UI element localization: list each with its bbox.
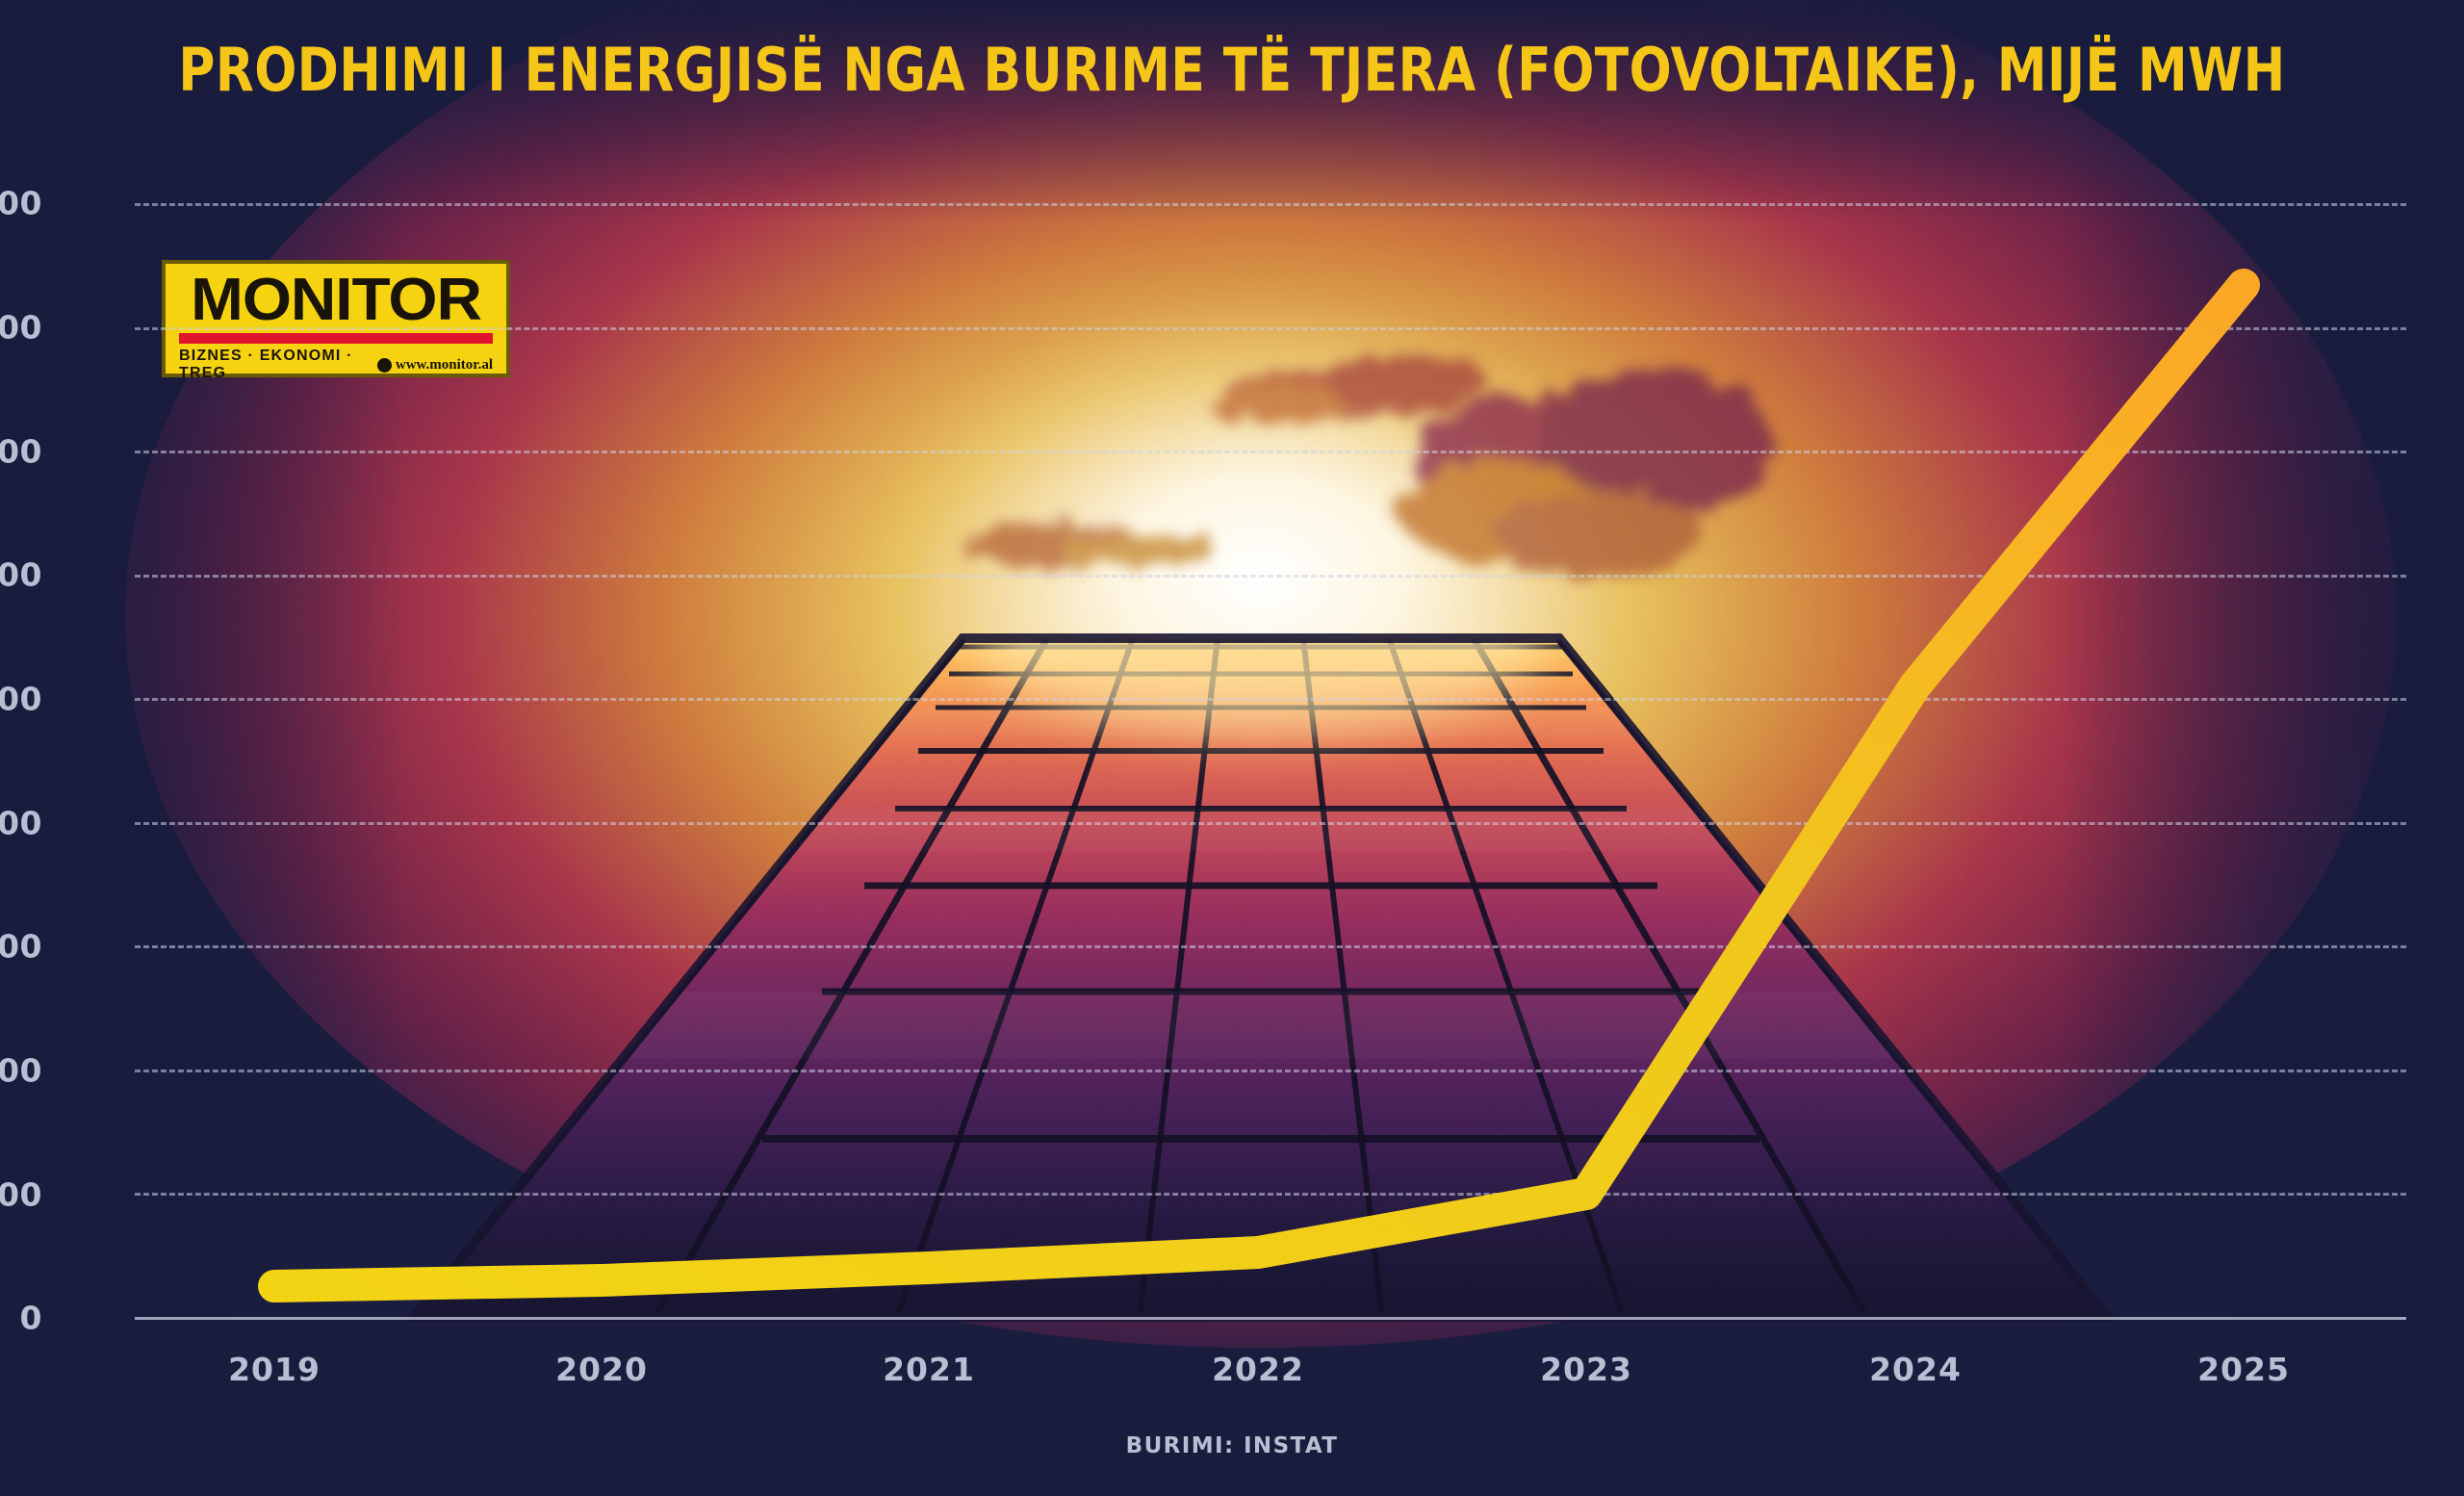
source-note: BURIMI: INSTAT	[0, 1433, 2464, 1458]
gridline-800	[135, 327, 2406, 330]
gridline-0	[135, 1317, 2406, 1320]
x-tick-label-2023: 2023	[1540, 1351, 1632, 1388]
y-tick-label-200: 200	[0, 1052, 42, 1090]
x-tick-label-2022: 2022	[1212, 1351, 1304, 1388]
y-tick-label-0: 0	[0, 1300, 42, 1337]
y-tick-label-400: 400	[0, 805, 42, 842]
gridline-200	[135, 1070, 2406, 1072]
y-tick-label-700: 700	[0, 433, 42, 471]
chart-title: PRODHIMI I ENERGJISË NGA BURIME TË TJERA…	[87, 35, 2378, 105]
x-tick-label-2020: 2020	[555, 1351, 648, 1388]
y-tick-label-500: 500	[0, 681, 42, 718]
x-tick-label-2021: 2021	[883, 1351, 975, 1388]
gridline-700	[135, 451, 2406, 453]
y-tick-label-300: 300	[0, 928, 42, 966]
gridline-900	[135, 203, 2406, 206]
x-tick-label-2024: 2024	[1869, 1351, 1962, 1388]
gridline-100	[135, 1193, 2406, 1196]
gridline-300	[135, 945, 2406, 948]
y-tick-label-100: 100	[0, 1176, 42, 1214]
x-tick-label-2019: 2019	[228, 1351, 321, 1388]
y-tick-label-900: 900	[0, 185, 42, 222]
y-tick-label-600: 600	[0, 556, 42, 594]
x-tick-label-2025: 2025	[2197, 1351, 2290, 1388]
gridline-600	[135, 575, 2406, 578]
plot-area	[135, 203, 2406, 1317]
y-tick-label-800: 800	[0, 309, 42, 347]
gridline-500	[135, 698, 2406, 701]
gridline-400	[135, 822, 2406, 825]
